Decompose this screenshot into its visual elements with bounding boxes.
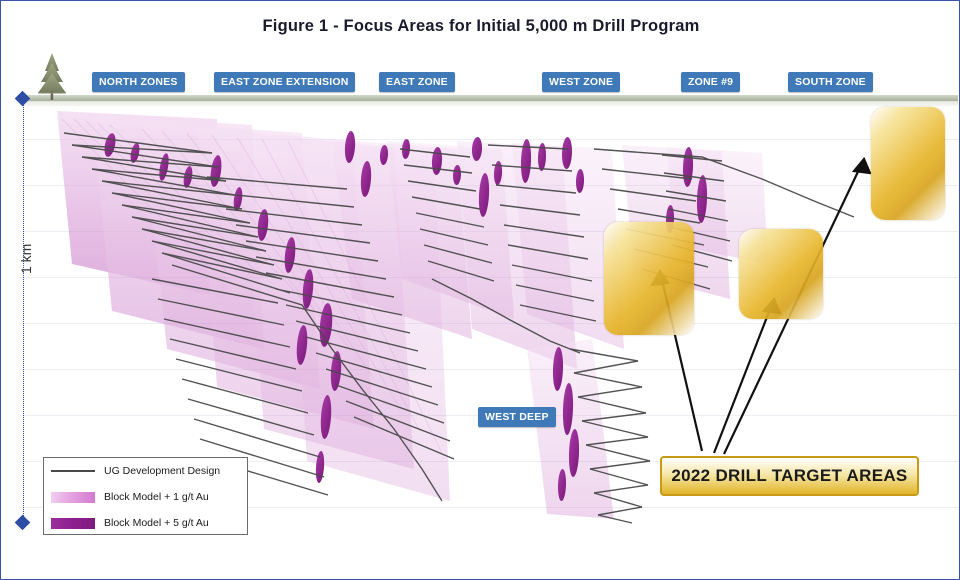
legend-item-block-model-1gt: Block Model + 1 g/t Au — [44, 484, 247, 510]
zone-label-east-zone-extension[interactable]: EAST ZONE EXTENSION — [214, 72, 355, 92]
legend-swatch-light-purple — [51, 492, 95, 503]
figure-frame: Figure 1 - Focus Areas for Initial 5,000… — [0, 0, 960, 580]
drill-target-areas-banner: 2022 DRILL TARGET AREAS — [660, 456, 919, 496]
west-zone-target-area — [739, 229, 823, 319]
section-diagram-canvas: 1 km — [2, 49, 959, 546]
zone-label-south-zone[interactable]: SOUTH ZONE — [788, 72, 873, 92]
zone-label-west-zone[interactable]: WEST ZONE — [542, 72, 620, 92]
legend-label-block-model-1gt: Block Model + 1 g/t Au — [104, 491, 209, 503]
legend-item-ug-design: UG Development Design — [44, 458, 247, 484]
zone-label-west-deep[interactable]: WEST DEEP — [478, 407, 556, 427]
zone9-target-area — [604, 222, 694, 335]
zone-label-east-zone[interactable]: EAST ZONE — [379, 72, 455, 92]
pine-tree-icon — [38, 53, 66, 100]
legend-label-ug-design: UG Development Design — [104, 465, 220, 477]
legend-swatch-dark-purple — [51, 518, 95, 529]
zone-label-north-zones[interactable]: NORTH ZONES — [92, 72, 185, 92]
legend-item-block-model-5gt: Block Model + 5 g/t Au — [44, 510, 247, 536]
drill-target-areas-label: 2022 DRILL TARGET AREAS — [671, 466, 907, 486]
page-title: Figure 1 - Focus Areas for Initial 5,000… — [1, 17, 960, 36]
zone-label-zone-9[interactable]: ZONE #9 — [681, 72, 740, 92]
legend-swatch-line-icon — [51, 470, 95, 472]
legend-label-block-model-5gt: Block Model + 5 g/t Au — [104, 517, 209, 529]
legend: UG Development Design Block Model + 1 g/… — [43, 457, 248, 535]
south-zone-target-area — [871, 107, 945, 220]
